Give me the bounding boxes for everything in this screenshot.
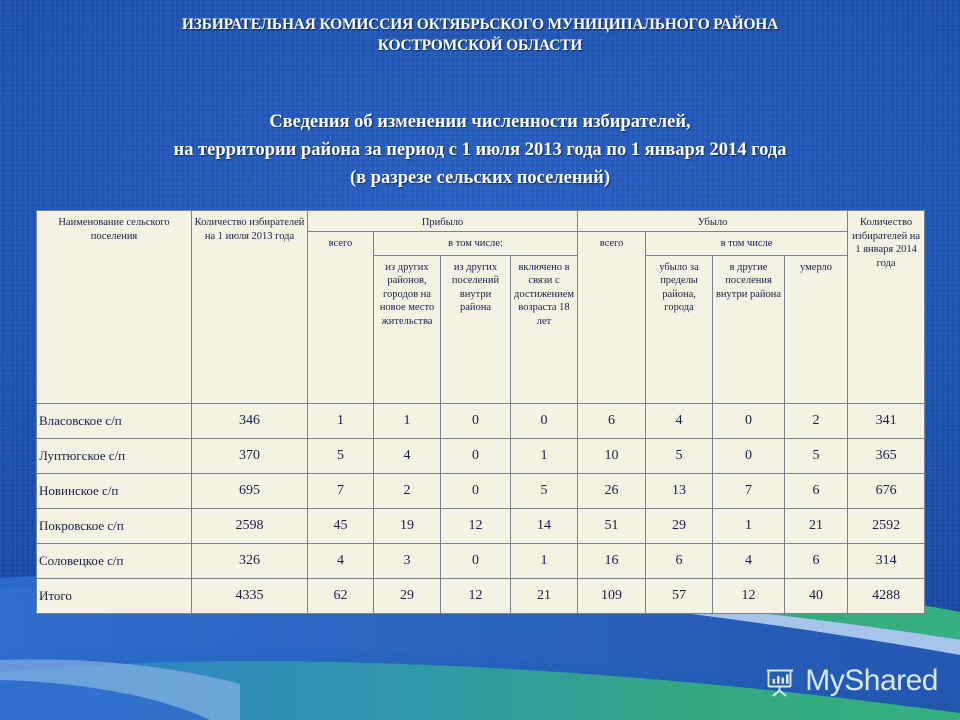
cell-arrived-total: 4 <box>308 543 374 578</box>
slide-canvas: ИЗБИРАТЕЛЬНАЯ КОМИССИЯ ОКТЯБРЬСКОГО МУНИ… <box>0 0 960 720</box>
table-row: Соловецкое с/п326430116646314 <box>37 543 925 578</box>
cell-end-count: 2592 <box>848 508 925 543</box>
cell-left-total: 10 <box>578 438 646 473</box>
cell-arrived-inner: 0 <box>441 543 511 578</box>
cell-arrived-other-districts: 3 <box>374 543 441 578</box>
cell-arrived-inner: 12 <box>441 578 511 613</box>
cell-settlement-name: Новинское с/п <box>37 473 192 508</box>
subtitle-line-3: (в разрезе сельских поселений) <box>40 164 920 192</box>
cell-arrived-inner: 0 <box>441 438 511 473</box>
cell-end-count: 676 <box>848 473 925 508</box>
cell-arrived-inner: 12 <box>441 508 511 543</box>
cell-left-died: 6 <box>785 473 848 508</box>
cell-arrived-inner: 0 <box>441 473 511 508</box>
cell-left-total: 51 <box>578 508 646 543</box>
cell-settlement-name: Покровское с/п <box>37 508 192 543</box>
page-title-line-2: КОСТРОМСКОЙ ОБЛАСТИ <box>60 35 900 56</box>
cell-end-count: 341 <box>848 403 925 438</box>
header-arrived-breakdown: в том числе: <box>374 231 578 255</box>
cell-left-total: 16 <box>578 543 646 578</box>
subtitle-line-2: на территории района за период с 1 июля … <box>40 136 920 164</box>
presentation-chart-icon <box>763 664 797 698</box>
cell-left-outside: 6 <box>646 543 713 578</box>
cell-arrived-age-18: 1 <box>511 543 578 578</box>
header-left-total: всего <box>578 231 646 403</box>
header-left-breakdown: в том числе <box>646 231 848 255</box>
cell-left-died: 21 <box>785 508 848 543</box>
cell-arrived-inner: 0 <box>441 403 511 438</box>
cell-settlement-name: Луптюгское с/п <box>37 438 192 473</box>
table-row: Итого4335622912211095712404288 <box>37 578 925 613</box>
cell-left-outside: 4 <box>646 403 713 438</box>
cell-left-inner: 0 <box>713 438 785 473</box>
cell-left-inner: 4 <box>713 543 785 578</box>
cell-start-count: 326 <box>192 543 308 578</box>
cell-arrived-total: 62 <box>308 578 374 613</box>
cell-left-total: 109 <box>578 578 646 613</box>
cell-arrived-age-18: 1 <box>511 438 578 473</box>
header-arrived-from-other-districts: из других районов, городов на новое мест… <box>374 255 441 403</box>
voters-table-container: Наименование сельского поселения Количес… <box>36 210 924 614</box>
cell-arrived-age-18: 0 <box>511 403 578 438</box>
cell-start-count: 695 <box>192 473 308 508</box>
header-left-to-inner-settlements: в другие поселения внутри района <box>713 255 785 403</box>
cell-start-count: 4335 <box>192 578 308 613</box>
cell-arrived-total: 1 <box>308 403 374 438</box>
header-group-arrived: Прибыло <box>308 211 578 232</box>
watermark-label: MyShared <box>805 664 938 698</box>
cell-left-inner: 7 <box>713 473 785 508</box>
cell-left-inner: 1 <box>713 508 785 543</box>
cell-left-inner: 0 <box>713 403 785 438</box>
cell-arrived-age-18: 14 <box>511 508 578 543</box>
cell-end-count: 4288 <box>848 578 925 613</box>
cell-left-died: 40 <box>785 578 848 613</box>
cell-left-died: 2 <box>785 403 848 438</box>
cell-settlement-name: Власовское с/п <box>37 403 192 438</box>
cell-left-outside: 13 <box>646 473 713 508</box>
header-arrived-age-18: включено в связи с достижением возраста … <box>511 255 578 403</box>
cell-arrived-other-districts: 1 <box>374 403 441 438</box>
table-header-row-1: Наименование сельского поселения Количес… <box>37 211 925 232</box>
header-arrived-from-inner-settlements: из других поселений внутри района <box>441 255 511 403</box>
cell-left-outside: 29 <box>646 508 713 543</box>
page-title-line-1: ИЗБИРАТЕЛЬНАЯ КОМИССИЯ ОКТЯБРЬСКОГО МУНИ… <box>60 14 900 35</box>
cell-left-total: 26 <box>578 473 646 508</box>
cell-arrived-total: 45 <box>308 508 374 543</box>
table-row: Новинское с/п6957205261376676 <box>37 473 925 508</box>
watermark: MyShared <box>763 664 938 698</box>
cell-arrived-other-districts: 2 <box>374 473 441 508</box>
subtitle: Сведения об изменении численности избира… <box>40 108 920 192</box>
header-left-died: умерло <box>785 255 848 403</box>
subtitle-line-1: Сведения об изменении численности избира… <box>40 108 920 136</box>
header-group-left: Убыло <box>578 211 848 232</box>
page-title: ИЗБИРАТЕЛЬНАЯ КОМИССИЯ ОКТЯБРЬСКОГО МУНИ… <box>60 14 900 56</box>
cell-arrived-other-districts: 19 <box>374 508 441 543</box>
cell-left-outside: 57 <box>646 578 713 613</box>
header-left-outside-district: убыло за пределы района, города <box>646 255 713 403</box>
header-voters-count-end: Количество избирателей на 1 января 2014 … <box>848 211 925 404</box>
cell-arrived-age-18: 5 <box>511 473 578 508</box>
cell-start-count: 346 <box>192 403 308 438</box>
cell-arrived-other-districts: 4 <box>374 438 441 473</box>
cell-arrived-other-districts: 29 <box>374 578 441 613</box>
header-voters-count-start: Количество избирателей на 1 июля 2013 го… <box>192 211 308 404</box>
cell-left-total: 6 <box>578 403 646 438</box>
table-row: Покровское с/п25984519121451291212592 <box>37 508 925 543</box>
cell-arrived-total: 5 <box>308 438 374 473</box>
cell-start-count: 370 <box>192 438 308 473</box>
table-body: Власовское с/п34611006402341Луптюгское с… <box>37 403 925 613</box>
cell-start-count: 2598 <box>192 508 308 543</box>
voters-change-table: Наименование сельского поселения Количес… <box>36 210 925 614</box>
table-row: Луптюгское с/п370540110505365 <box>37 438 925 473</box>
header-arrived-total: всего <box>308 231 374 403</box>
cell-end-count: 365 <box>848 438 925 473</box>
table-row: Власовское с/п34611006402341 <box>37 403 925 438</box>
cell-arrived-age-18: 21 <box>511 578 578 613</box>
cell-settlement-name: Итого <box>37 578 192 613</box>
cell-end-count: 314 <box>848 543 925 578</box>
header-settlement-name: Наименование сельского поселения <box>37 211 192 404</box>
cell-arrived-total: 7 <box>308 473 374 508</box>
cell-settlement-name: Соловецкое с/п <box>37 543 192 578</box>
cell-left-outside: 5 <box>646 438 713 473</box>
cell-left-died: 6 <box>785 543 848 578</box>
cell-left-died: 5 <box>785 438 848 473</box>
cell-left-inner: 12 <box>713 578 785 613</box>
